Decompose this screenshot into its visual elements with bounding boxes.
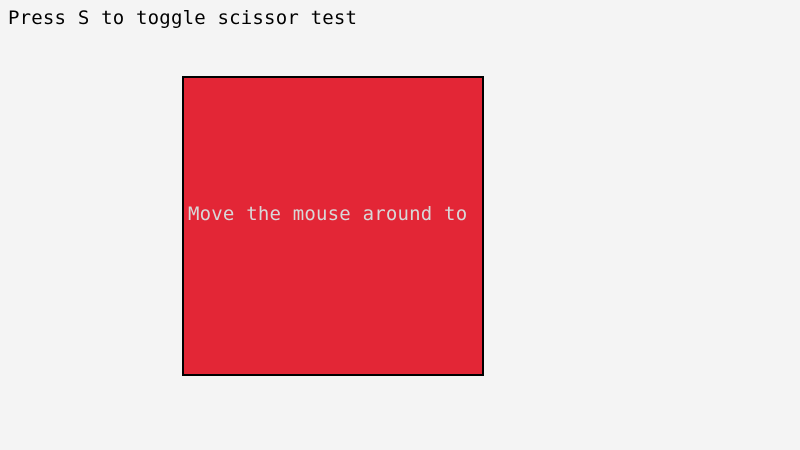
scissor-clipped-message: Move the mouse around to reveal the scis… xyxy=(188,203,484,225)
scissor-region-rectangle: Move the mouse around to reveal the scis… xyxy=(182,76,484,376)
demo-canvas: Press S to toggle scissor test Move the … xyxy=(0,0,800,450)
header-instruction-text: Press S to toggle scissor test xyxy=(8,7,357,29)
